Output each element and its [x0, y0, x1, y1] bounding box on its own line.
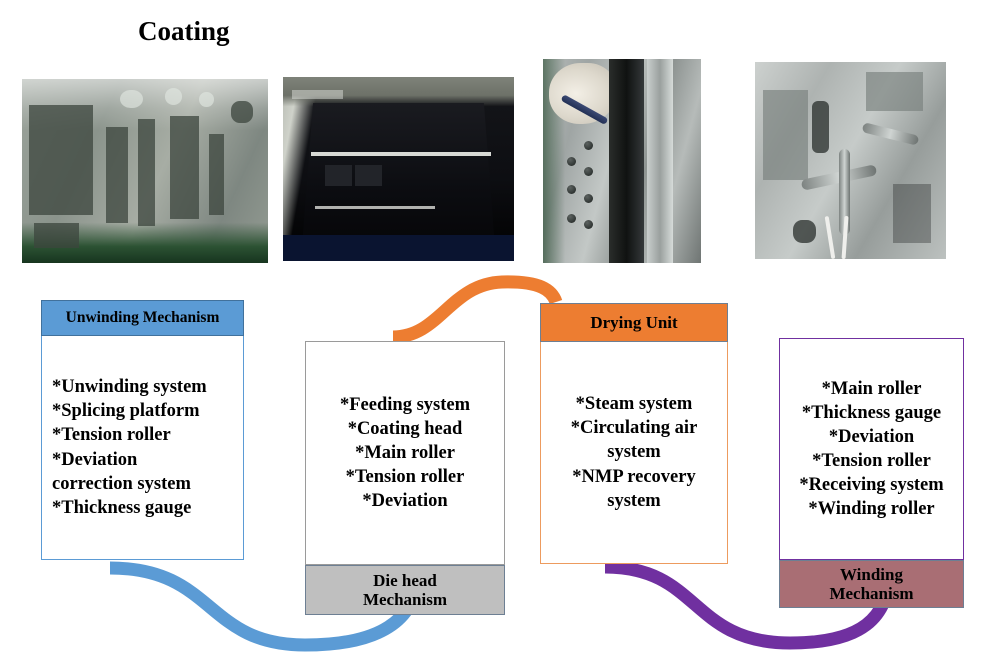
- box-body-die-head: *Feeding system *Coating head *Main roll…: [305, 341, 505, 565]
- feature-list-die-head: *Feeding system *Coating head *Main roll…: [340, 393, 470, 513]
- photo-winding-station-image: [755, 62, 946, 259]
- process-box-unwinding[interactable]: Unwinding Mechanism *Unwinding system *S…: [41, 300, 244, 560]
- list-item: *Circulating air: [571, 416, 698, 440]
- list-item: system: [571, 489, 698, 513]
- photo-coated-web: [283, 77, 514, 261]
- box-header-drying-unit: Drying Unit: [540, 303, 728, 342]
- list-item: *Deviation: [799, 425, 943, 449]
- box-footer-die-head-line2: Mechanism: [363, 590, 447, 609]
- photo-winding-station: [755, 62, 946, 259]
- list-item: *NMP recovery: [571, 465, 698, 489]
- box-body-drying-unit: *Steam system *Circulating air system *N…: [540, 342, 728, 564]
- process-box-winding[interactable]: *Main roller *Thickness gauge *Deviation…: [779, 338, 964, 608]
- photo-coating-machine-image: [22, 79, 268, 263]
- box-body-unwinding: *Unwinding system *Splicing platform *Te…: [41, 336, 244, 560]
- feature-list-drying-unit: *Steam system *Circulating air system *N…: [571, 392, 698, 512]
- box-footer-winding-line1: Winding: [840, 565, 903, 584]
- list-item: *Main roller: [340, 441, 470, 465]
- box-footer-die-head: Die head Mechanism: [305, 565, 505, 615]
- list-item: *Deviation: [52, 448, 207, 472]
- photo-die-head-image: [543, 59, 701, 263]
- list-item: *Feeding system: [340, 393, 470, 417]
- list-item: *Main roller: [799, 377, 943, 401]
- list-item: *Tension roller: [52, 423, 207, 447]
- photo-coating-machine: [22, 79, 268, 263]
- list-item: *Thickness gauge: [799, 401, 943, 425]
- list-item: *Tension roller: [340, 465, 470, 489]
- list-item: system: [571, 440, 698, 464]
- box-header-unwinding: Unwinding Mechanism: [41, 300, 244, 336]
- list-item: *Tension roller: [799, 449, 943, 473]
- slide-canvas: Coating: [0, 0, 1000, 658]
- connector-diehead-to-drying: [393, 282, 556, 337]
- list-item: *Unwinding system: [52, 375, 207, 399]
- feature-list-unwinding: *Unwinding system *Splicing platform *Te…: [52, 375, 207, 519]
- photo-die-head: [543, 59, 701, 263]
- process-box-drying-unit[interactable]: Drying Unit *Steam system *Circulating a…: [540, 303, 728, 564]
- list-item: *Winding roller: [799, 497, 943, 521]
- list-item: *Deviation: [340, 489, 470, 513]
- box-footer-winding-line2: Mechanism: [829, 584, 913, 603]
- list-item: correction system: [52, 472, 207, 496]
- list-item: *Steam system: [571, 392, 698, 416]
- process-box-die-head[interactable]: *Feeding system *Coating head *Main roll…: [305, 341, 505, 615]
- list-item: *Thickness gauge: [52, 496, 207, 520]
- list-item: *Receiving system: [799, 473, 943, 497]
- box-footer-die-head-line1: Die head: [373, 571, 437, 590]
- photo-coated-web-image: [283, 77, 514, 261]
- box-body-winding: *Main roller *Thickness gauge *Deviation…: [779, 338, 964, 560]
- list-item: *Coating head: [340, 417, 470, 441]
- box-footer-winding: Winding Mechanism: [779, 560, 964, 608]
- page-title: Coating: [138, 16, 230, 47]
- feature-list-winding: *Main roller *Thickness gauge *Deviation…: [799, 377, 943, 521]
- list-item: *Splicing platform: [52, 399, 207, 423]
